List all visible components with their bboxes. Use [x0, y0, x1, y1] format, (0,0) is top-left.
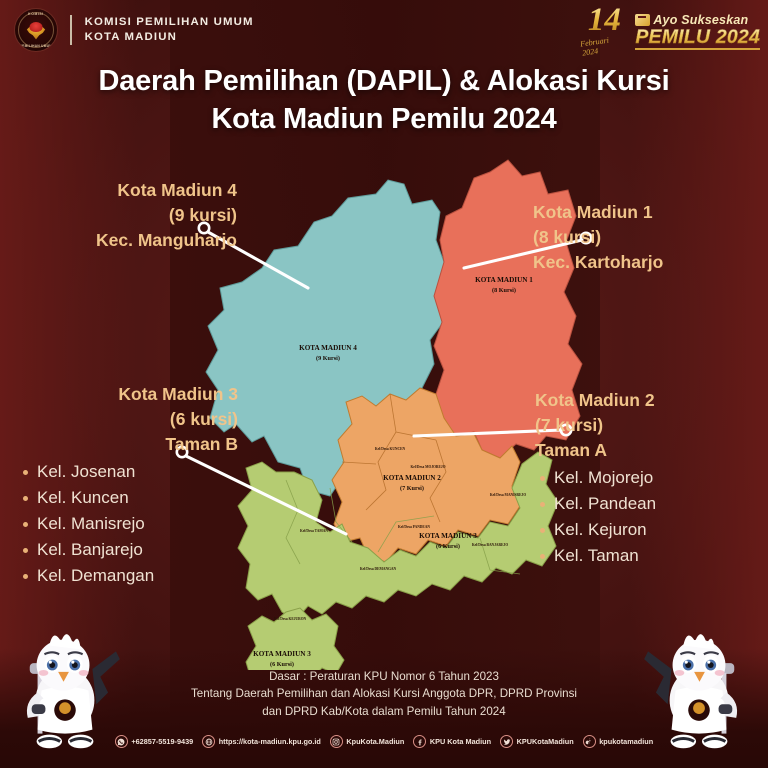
org-line-1: KOMISI PEMILIHAN UMUM — [85, 15, 254, 30]
svg-text:KOTA MADIUN 3: KOTA MADIUN 3 — [419, 532, 477, 540]
svg-text:Kel/Desa TAMAN: Kel/Desa TAMAN — [300, 529, 328, 533]
social-facebook[interactable]: KPU Kota Madiun — [413, 735, 491, 748]
svg-text:KOTA MADIUN 1: KOTA MADIUN 1 — [475, 276, 533, 284]
stamp-underline — [635, 48, 760, 50]
svg-text:KOTA MADIUN 3: KOTA MADIUN 3 — [253, 650, 311, 658]
list-item: Kel. Manisrejo — [18, 511, 238, 537]
callout-dapil-2-name: Kota Madiun 2 — [535, 388, 750, 413]
svg-text:Kel/Desa BANJAREJO: Kel/Desa BANJAREJO — [472, 543, 508, 547]
callout-dapil-3-area: Taman B — [18, 432, 238, 457]
logo-text-bottom: PEMILIHAN UMUM — [15, 44, 57, 48]
stamp-date-block: 14 Februari 2024 — [578, 6, 630, 56]
callout-dapil-1-name: Kota Madiun 1 — [533, 200, 748, 225]
svg-text:Kel/Desa MOJOREJO: Kel/Desa MOJOREJO — [410, 465, 445, 469]
mascot-right-wing-left — [644, 651, 671, 704]
header-org-text: KOMISI PEMILIHAN UMUM KOTA MADIUN — [85, 15, 254, 44]
callout-dapil-3-list: Kel. Josenan Kel. Kuncen Kel. Manisrejo … — [18, 459, 238, 589]
list-item: Kel. Kuncen — [18, 485, 238, 511]
header-divider — [70, 15, 72, 45]
svg-text:(7 Kursi): (7 Kursi) — [400, 485, 424, 492]
facebook-icon — [413, 735, 426, 748]
svg-text:Kel/Desa DEMANGAN: Kel/Desa DEMANGAN — [360, 567, 397, 571]
mascot-right-logo-inner — [693, 702, 705, 714]
svg-text:(8 Kursi): (8 Kursi) — [492, 287, 516, 294]
social-website-label: https://kota-madiun.kpu.go.id — [219, 737, 321, 746]
svg-text:KOTA MADIUN 4: KOTA MADIUN 4 — [299, 344, 357, 352]
list-item: Kel. Josenan — [18, 459, 238, 485]
list-item: Kel. Taman — [535, 543, 750, 569]
callout-dapil-2-area: Taman A — [535, 438, 750, 463]
pemilu-2024-stamp: 14 Februari 2024 Ayo Sukseskan PEMILU 20… — [578, 4, 760, 58]
social-facebook-label: KPU Kota Madiun — [430, 737, 491, 746]
dapil-map[interactable]: KOTA MADIUN 4 (9 Kursi) KOTA MADIUN 1 (8… — [190, 150, 590, 670]
org-line-2: KOTA MADIUN — [85, 30, 254, 45]
svg-text:(6 Kursi): (6 Kursi) — [436, 543, 460, 550]
instagram-icon — [330, 735, 343, 748]
social-tiktok[interactable]: kpukotamadiun — [583, 735, 653, 748]
callout-dapil-3[interactable]: Kota Madiun 3 (6 kursi) Taman B Kel. Jos… — [18, 382, 238, 589]
callout-dapil-4-seats: (9 kursi) — [22, 203, 237, 228]
social-whatsapp-label: +62857-5519-9439 — [131, 737, 193, 746]
logo-text-top: KOMISI — [15, 12, 57, 16]
social-contact-bar: +62857-5519-9439 https://kota-madiun.kpu… — [0, 735, 768, 748]
mascot-left-logo-inner — [59, 702, 71, 714]
social-tiktok-label: kpukotamadiun — [599, 737, 653, 746]
social-twitter[interactable]: KPUKotaMadiun — [500, 735, 574, 748]
list-item: Kel. Pandean — [535, 491, 750, 517]
callout-dapil-2[interactable]: Kota Madiun 2 (7 kursi) Taman A Kel. Moj… — [535, 388, 750, 569]
svg-text:Kel/Desa KEJURON: Kel/Desa KEJURON — [274, 617, 307, 621]
social-instagram[interactable]: KpuKota.Madiun — [330, 735, 404, 748]
callout-dapil-2-seats: (7 kursi) — [535, 413, 750, 438]
stamp-ayo-row: Ayo Sukseskan — [635, 13, 748, 27]
page-title: Daerah Pemilihan (DAPIL) & Alokasi Kursi… — [0, 62, 768, 138]
social-twitter-label: KPUKotaMadiun — [517, 737, 574, 746]
callout-dapil-3-seats: (6 kursi) — [18, 407, 238, 432]
twitter-icon — [500, 735, 513, 748]
svg-text:Kel/Desa KUNCEN: Kel/Desa KUNCEN — [375, 447, 406, 451]
tiktok-icon — [583, 735, 596, 748]
svg-text:Kel/Desa MANISREJO: Kel/Desa MANISREJO — [490, 493, 526, 497]
ballot-box-icon — [635, 14, 650, 26]
website-icon — [202, 735, 215, 748]
stamp-day: 14 — [578, 4, 630, 37]
svg-text:Kel/Desa PANDEAN: Kel/Desa PANDEAN — [398, 525, 430, 529]
title-line-1: Daerah Pemilihan (DAPIL) & Alokasi Kursi — [0, 62, 768, 100]
list-item: Kel. Kejuron — [535, 517, 750, 543]
stamp-ayo-text: Ayo Sukseskan — [653, 13, 748, 27]
callout-dapil-1-seats: (8 kursi) — [533, 225, 748, 250]
callout-dapil-4[interactable]: Kota Madiun 4 (9 kursi) Kec. Manguharjo — [22, 178, 237, 253]
callout-dapil-3-name: Kota Madiun 3 — [18, 382, 238, 407]
list-item: Kel. Mojorejo — [535, 465, 750, 491]
social-whatsapp[interactable]: +62857-5519-9439 — [115, 735, 193, 748]
callout-dapil-1-area: Kec. Kartoharjo — [533, 250, 748, 275]
list-item: Kel. Banjarejo — [18, 537, 238, 563]
kpu-logo-icon: KOMISI PEMILIHAN UMUM — [14, 8, 58, 52]
logo-shield-icon — [30, 22, 43, 32]
callout-dapil-4-name: Kota Madiun 4 — [22, 178, 237, 203]
list-item: Kel. Demangan — [18, 563, 238, 589]
whatsapp-icon — [115, 735, 128, 748]
callout-dapil-1[interactable]: Kota Madiun 1 (8 kursi) Kec. Kartoharjo — [533, 200, 748, 275]
social-instagram-label: KpuKota.Madiun — [346, 737, 404, 746]
callout-dapil-2-list: Kel. Mojorejo Kel. Pandean Kel. Kejuron … — [535, 465, 750, 569]
social-website[interactable]: https://kota-madiun.kpu.go.id — [202, 735, 321, 748]
svg-text:KOTA MADIUN 2: KOTA MADIUN 2 — [383, 474, 441, 482]
stamp-text-block: Ayo Sukseskan PEMILU 2024 — [635, 13, 760, 50]
title-line-2: Kota Madiun Pemilu 2024 — [0, 100, 768, 138]
mascot-left-wing-right — [92, 651, 119, 704]
svg-text:(9 Kursi): (9 Kursi) — [316, 355, 340, 362]
stamp-pemilu-text: PEMILU 2024 — [635, 27, 760, 47]
callout-dapil-4-area: Kec. Manguharjo — [22, 228, 237, 253]
